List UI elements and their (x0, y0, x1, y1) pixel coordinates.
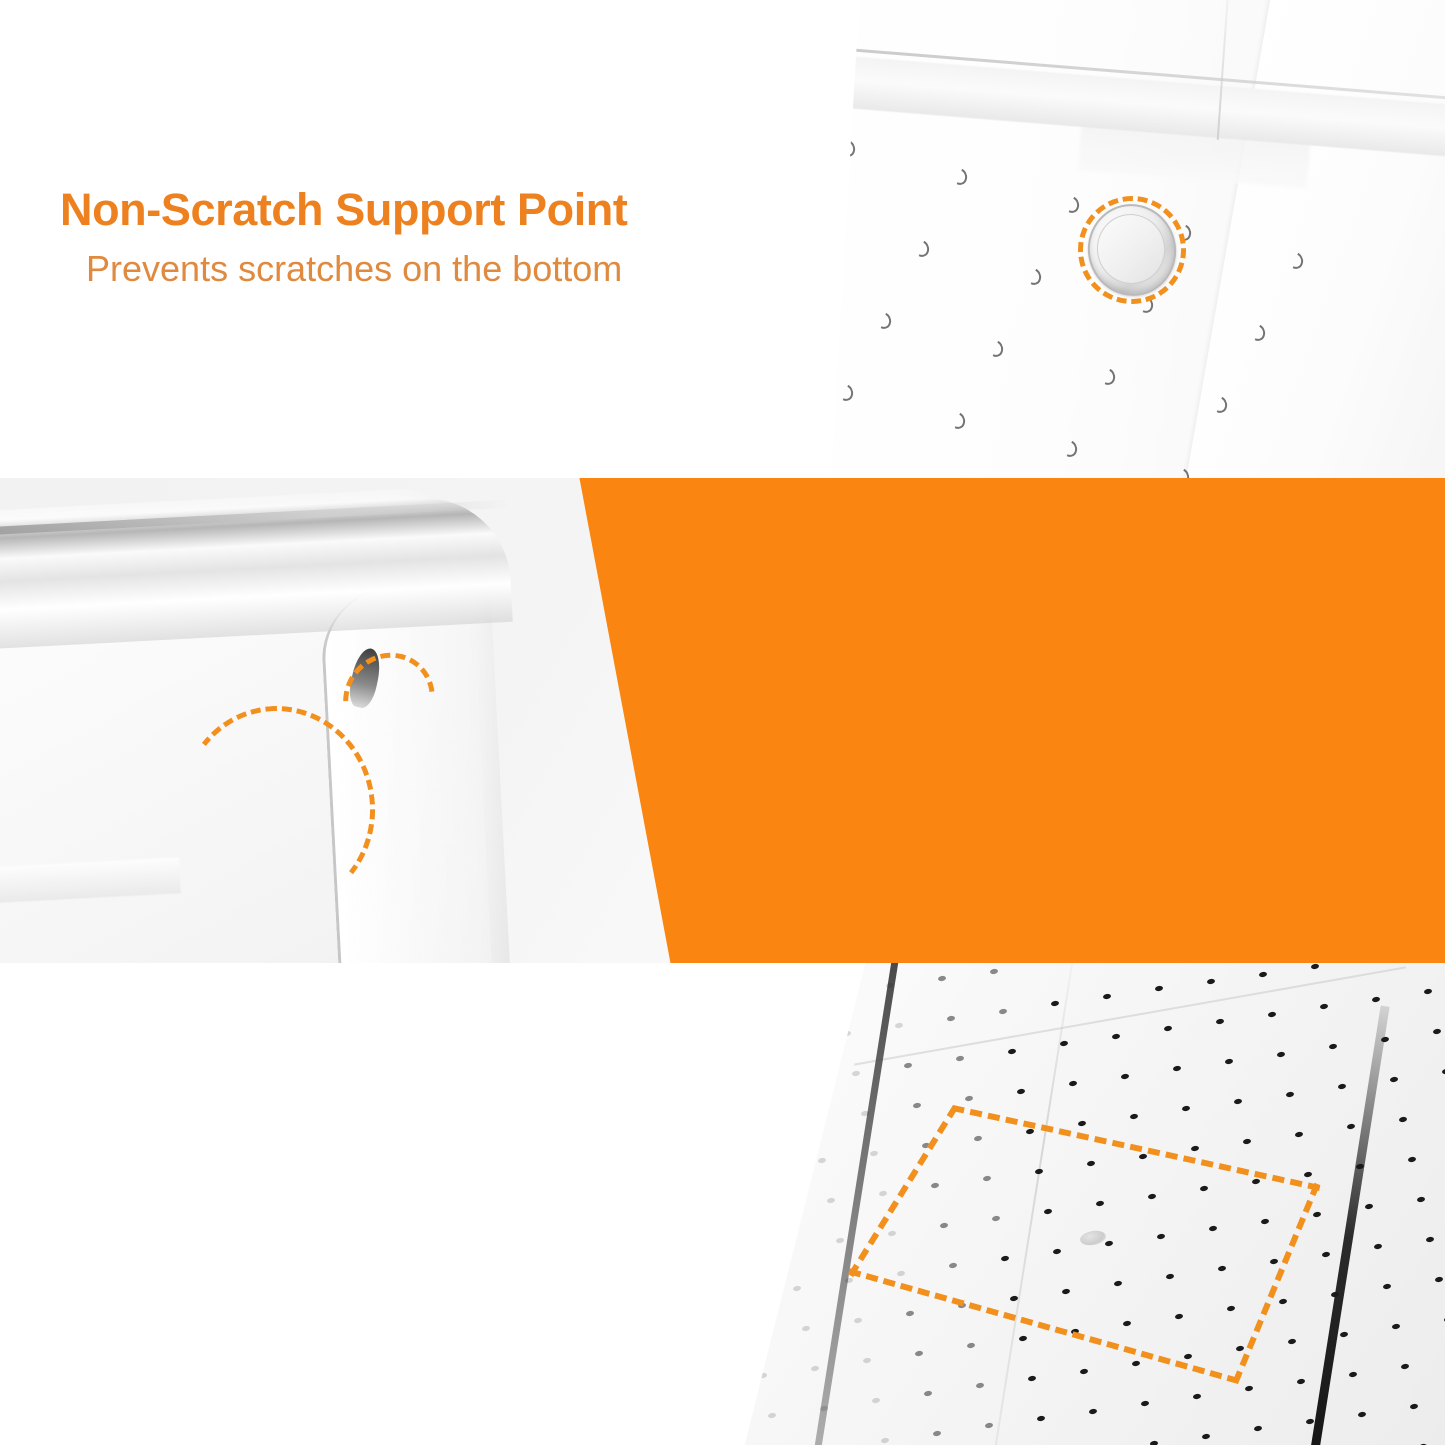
support-point-annotation (1078, 196, 1186, 304)
dashed-parallelogram-side-left (848, 1105, 958, 1277)
drain-hole (741, 1292, 750, 1298)
drain-hole (834, 990, 843, 996)
dashed-circle-highlight-icon (1069, 187, 1194, 312)
dashed-parallelogram-icon (700, 963, 1445, 1445)
panel-1-text: Non-Scratch Support Point Prevents scrat… (60, 186, 628, 290)
drain-hole (748, 1085, 757, 1091)
panel-non-scratch-support-point: Non-Scratch Support Point Prevents scrat… (0, 0, 1445, 478)
panel-round-corner-design: Round Corner Design Will not scratch the… (0, 478, 1445, 963)
drain-hole (723, 1212, 732, 1218)
drain-hole (714, 1172, 723, 1178)
drain-hole (766, 1165, 775, 1171)
pet-plastic-photo (700, 963, 1445, 1445)
panel-1-subline: Prevents scratches on the bottom (86, 247, 628, 290)
drain-hole (800, 1077, 809, 1083)
drain-hole (784, 1245, 793, 1251)
drain-hole (705, 1132, 714, 1138)
panel-1-headline: Non-Scratch Support Point (60, 186, 628, 235)
panel-pet-plastic: PET Plastic ultra-sturdy, so will not cr… (0, 963, 1445, 1445)
drain-hole (732, 1252, 741, 1258)
drain-hole (750, 1332, 759, 1338)
dashed-parallelogram-side-top (952, 1105, 1320, 1191)
drain-hole (721, 965, 730, 971)
dashed-parallelogram-side-bottom (848, 1268, 1240, 1384)
drain-hole (782, 997, 791, 1003)
drain-hole (757, 1125, 766, 1131)
dashed-parallelogram-side-right (1232, 1183, 1320, 1384)
drain-hole (739, 1045, 748, 1051)
drain-hole (775, 1205, 784, 1211)
product-feature-infographic: Non-Scratch Support Point Prevents scrat… (0, 0, 1445, 1445)
drain-hole (809, 1117, 818, 1123)
drain-hole (730, 1005, 739, 1011)
drain-hole (791, 1037, 800, 1043)
